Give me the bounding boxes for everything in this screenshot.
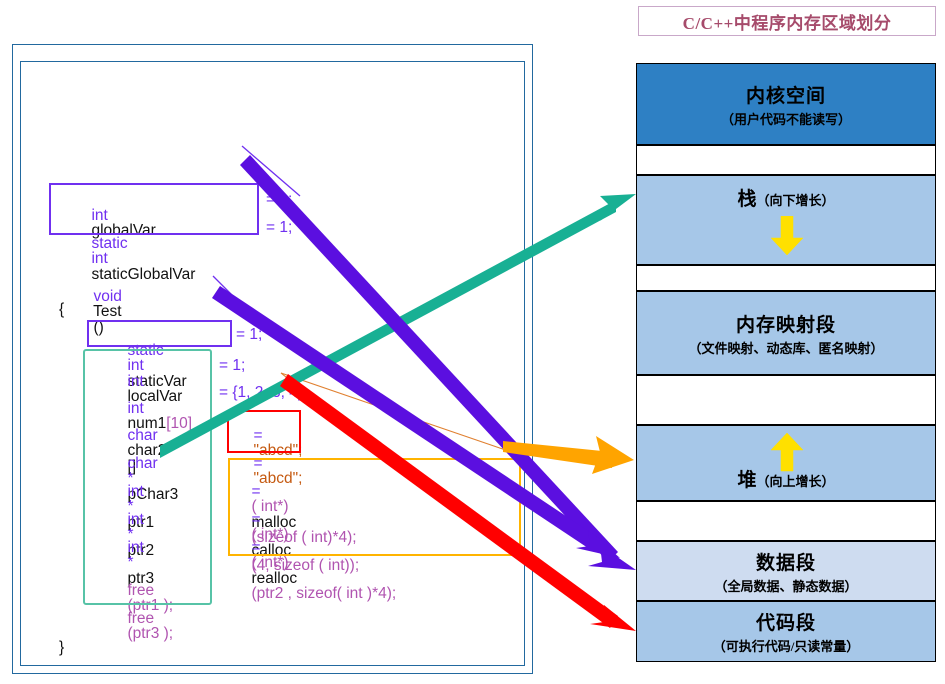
code-line-num1-value: = {1, 2, 3, 4}; [219,385,307,401]
code-listing: int globalVar = 1; static int staticGlob… [21,62,524,665]
code-line-brace-open: { [59,302,64,318]
keyword-int: int [91,250,107,267]
diagram-title-box: C/C++中程序内存区域划分 [638,6,936,36]
memory-block-data-segment: 数据段 （全局数据、静态数据） [636,541,936,601]
memory-block-kernel-space: 内核空间 （用户代码不能读写） [636,63,936,145]
function-free: free [127,610,154,627]
data-segment-title: 数据段 [756,548,816,575]
static-var-box [87,320,232,347]
locals-box [83,349,212,605]
cast-int-pointer: ( int*) [251,554,288,571]
code-segment-subtitle: （可执行代码/只读常量） [713,636,860,655]
memory-block-memory-mapping: 内存映射段 （文件映射、动态库、匿名映射） [636,291,936,375]
sizeof-expression-realloc: (ptr2 , sizeof( int )*4); [251,585,396,602]
function-realloc: realloc [251,570,297,587]
code-segment-title: 代码段 [756,608,816,635]
keyword-void: void [93,288,121,305]
memory-block-gap-1 [636,145,936,175]
code-line-local-var-value: = 1; [219,358,245,374]
global-vars-box [49,183,259,235]
code-line-static-var-value: = 1; [236,327,262,343]
string-literal-box [227,410,301,453]
code-line-brace-close: } [59,640,64,656]
memory-mapping-subtitle: （文件映射、动态库、匿名映射） [688,338,883,357]
kernel-space-title: 内核空间 [746,81,826,108]
stack-label: 栈（向下增长） [737,184,834,211]
identifier-test: Test [93,303,121,320]
kernel-space-subtitle: （用户代码不能读写） [721,109,851,128]
memory-mapping-title: 内存映射段 [736,310,836,337]
memory-block-gap-2 [636,265,936,291]
code-panel-inner-frame: int globalVar = 1; static int staticGlob… [20,61,525,666]
memory-layout-column: 内核空间 （用户代码不能读写） 栈（向下增长） 内存映射段 （文件映射、动态库、… [636,63,936,662]
heap-alloc-box [228,458,521,556]
code-line-static-global-var-value: = 1; [266,220,292,236]
keyword-static: static [91,235,127,252]
memory-block-gap-4 [636,501,936,541]
code-panel-outer-frame: int globalVar = 1; static int staticGlob… [12,44,533,674]
up-growth-arrow-icon [770,432,804,472]
memory-block-heap: 堆（向上增长） [636,425,936,501]
page-title: C/C++中程序内存区域划分 [683,9,892,34]
down-growth-arrow-icon [770,216,804,256]
memory-block-stack: 栈（向下增长） [636,175,936,265]
memory-block-gap-3 [636,375,936,425]
code-line-global-var-value: = 1; [266,192,292,208]
free-arg-ptr3: (ptr3 ); [127,625,173,642]
data-segment-subtitle: （全局数据、静态数据） [714,576,857,595]
memory-block-code-segment: 代码段 （可执行代码/只读常量） [636,601,936,662]
